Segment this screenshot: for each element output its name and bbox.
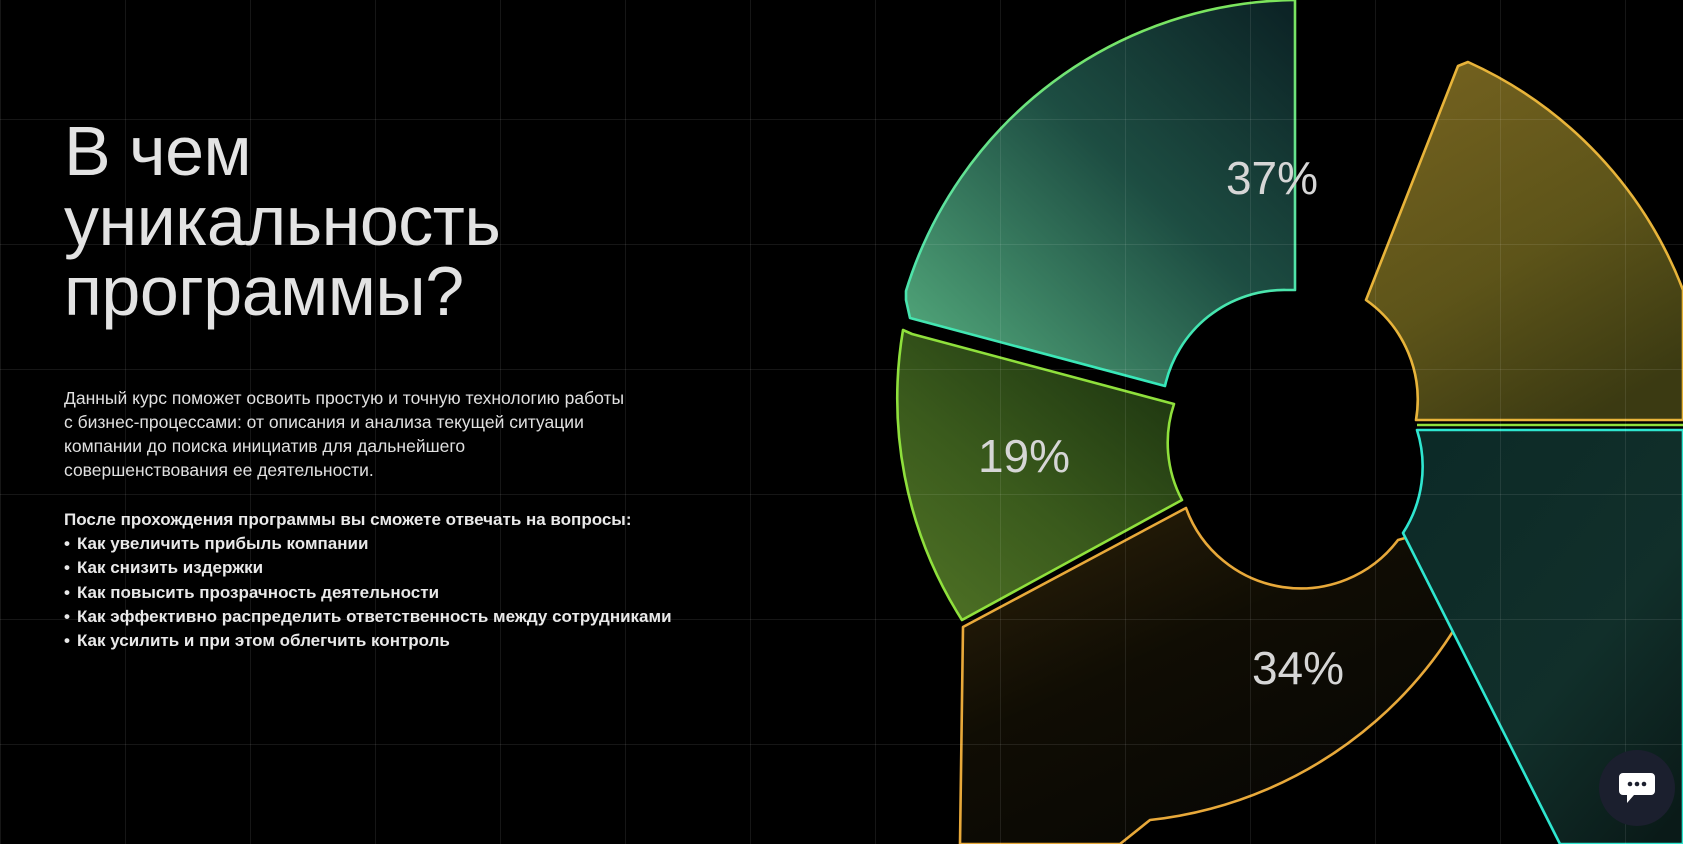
description-line-4: совершенствования ее деятельности. <box>64 458 764 482</box>
description-line-1: Данный курс поможет освоить простую и то… <box>64 386 764 410</box>
donut-slice-5[interactable] <box>1366 62 1683 420</box>
slide-root: 37% 19% 34% <box>0 0 1683 844</box>
description-line-2: с бизнес-процессами: от описания и анали… <box>64 410 764 434</box>
donut-slice-37[interactable]: 37% <box>906 0 1318 386</box>
description-line-3: компании до поиска инициатив для дальней… <box>64 434 764 458</box>
questions-intro: После прохождения программы вы сможете о… <box>64 508 804 532</box>
questions-list: Как увеличить прибыль компании Как снизи… <box>64 532 804 653</box>
chat-widget-button[interactable] <box>1599 750 1675 826</box>
page-title-line-2: уникальность <box>64 186 704 256</box>
page-title: В чем уникальность программы? <box>64 116 704 326</box>
list-item: Как снизить издержки <box>64 556 804 580</box>
description-paragraph: Данный курс поможет освоить простую и то… <box>64 386 764 482</box>
list-item: Как эффективно распределить ответственно… <box>64 605 804 629</box>
page-title-line-1: В чем <box>64 116 704 186</box>
list-item: Как повысить прозрачность деятельности <box>64 581 804 605</box>
list-item: Как усилить и при этом облегчить контрол… <box>64 629 804 653</box>
donut-slice-37-label: 37% <box>1226 152 1318 204</box>
donut-slice-34-label: 34% <box>1252 642 1344 694</box>
list-item: Как увеличить прибыль компании <box>64 532 804 556</box>
donut-slice-19-label: 19% <box>978 430 1070 482</box>
questions-block: После прохождения программы вы сможете о… <box>64 508 804 653</box>
page-title-line-3: программы? <box>64 256 704 326</box>
content-column: В чем уникальность программы? Данный кур… <box>64 0 824 844</box>
chat-bubble-icon <box>1618 771 1656 805</box>
donut-slice-5-path[interactable] <box>1366 62 1683 420</box>
